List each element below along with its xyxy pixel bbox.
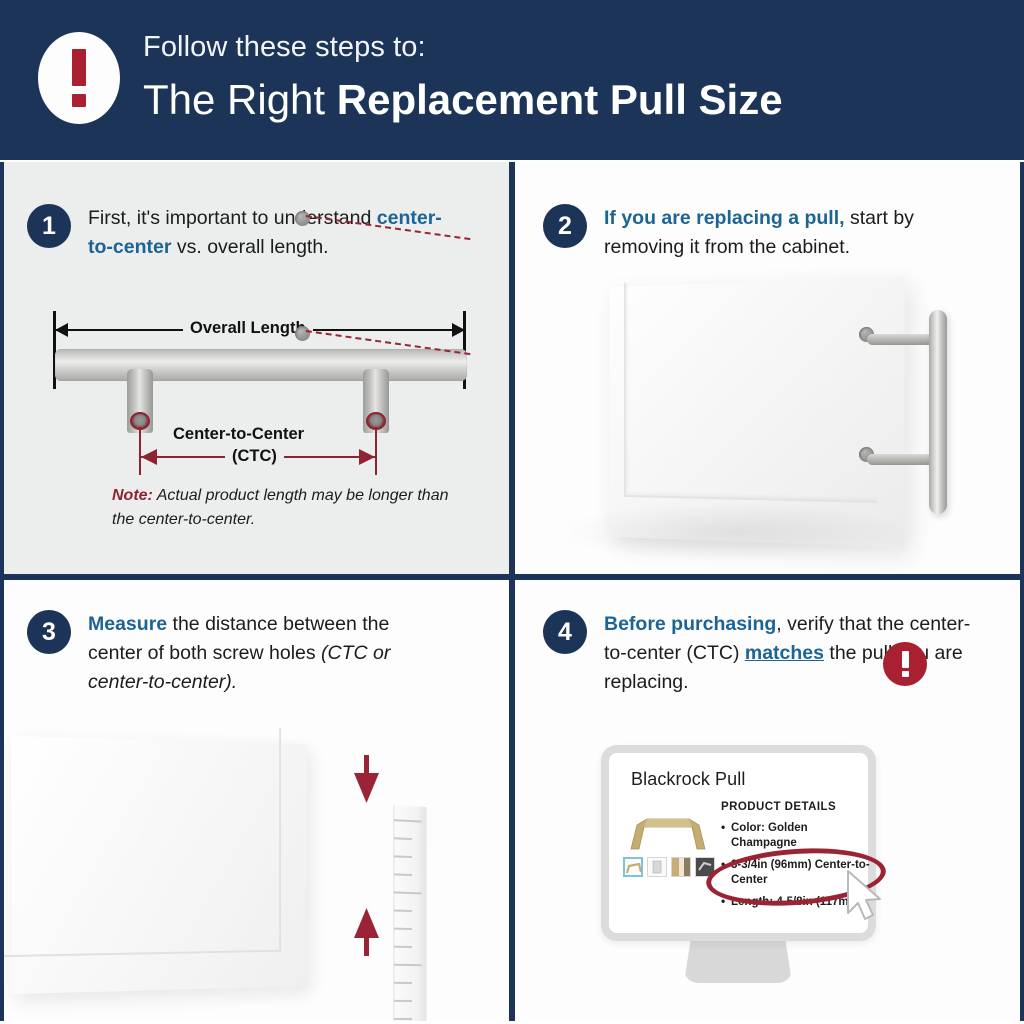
pull-post-top — [867, 334, 935, 345]
overall-arrow-right-icon — [452, 323, 465, 337]
pull-bar-graphic — [55, 349, 467, 381]
step-1-text-b: vs. overall length. — [171, 236, 328, 258]
note-text: Actual product length may be longer than… — [112, 487, 448, 528]
exclamation-circle-icon — [38, 32, 120, 124]
mouse-pointer-icon — [844, 869, 888, 925]
step-1-badge: 1 — [27, 204, 71, 248]
pull-post-bottom — [867, 454, 935, 465]
measure-arrow-up-icon — [352, 900, 382, 956]
step-4-text-accent: Before purchasing — [604, 613, 776, 635]
step-2-text: If you are replacing a pull, start by re… — [604, 204, 943, 262]
step-4-text: Before purchasing, verify that the cente… — [604, 610, 993, 697]
step-2-text-accent: If you are replacing a pull, — [604, 207, 845, 229]
matches-link[interactable]: matches — [745, 642, 824, 664]
header-title-light: The Right — [143, 76, 337, 123]
step-3-badge: 3 — [27, 610, 71, 654]
step-1-note: Note: Actual product length may be longe… — [112, 484, 452, 532]
step-1-text: First, it's important to understand cent… — [88, 204, 457, 262]
cabinet-door-measure-bevel — [1, 719, 281, 957]
header-subtitle: Follow these steps to: — [143, 27, 783, 67]
header-text-block: Follow these steps to: The Right Replace… — [143, 27, 783, 129]
frame-edge-right — [1020, 162, 1024, 1024]
blackrock-pull-icon — [627, 811, 709, 851]
ctc-label: Center-to-Center — [166, 425, 311, 444]
vertical-divider — [509, 162, 515, 1024]
ctc-arrow-left-icon — [141, 449, 157, 465]
exclamation-glyph — [72, 49, 86, 107]
product-thumbnail-1[interactable] — [623, 857, 643, 877]
ruler-graphic — [393, 805, 426, 1024]
step-3-text-accent: Measure — [88, 613, 167, 635]
header-banner: Follow these steps to: The Right Replace… — [0, 0, 1024, 160]
step-1-header: 1 First, it's important to understand ce… — [27, 204, 457, 262]
pull-post-right — [363, 369, 389, 433]
ctc-abbrev-label: (CTC) — [225, 447, 284, 466]
overall-length-label: Overall Length — [183, 319, 313, 338]
screw-hole-lower-icon — [295, 326, 310, 341]
product-thumbnail-2[interactable] — [647, 857, 667, 877]
step-4-header: 4 Before purchasing, verify that the cen… — [543, 610, 993, 697]
product-image — [621, 799, 713, 857]
step-3-text: Measure the distance between the center … — [88, 610, 447, 697]
cabinet-door-inner-bevel — [624, 273, 877, 503]
infographic-page: Follow these steps to: The Right Replace… — [0, 0, 1024, 1024]
product-thumbnail-3[interactable] — [671, 857, 691, 877]
step-2-badge: 2 — [543, 204, 587, 248]
ctc-arrow-right-icon — [359, 449, 375, 465]
door-shadow — [555, 502, 915, 562]
frame-edge-left — [0, 162, 4, 1024]
ctc-drop-right — [375, 427, 377, 475]
measure-arrow-down-icon — [352, 755, 382, 811]
screw-hole-upper-icon — [295, 211, 310, 226]
product-details-heading: PRODUCT DETAILS — [721, 801, 836, 813]
product-page-monitor: Blackrock Pull — [601, 745, 876, 941]
step-2-panel: 2 If you are replacing a pull, start by … — [515, 162, 1024, 574]
step-1-panel: 1 First, it's important to understand ce… — [0, 162, 509, 574]
step-3-panel: 3 Measure the distance between the cente… — [0, 580, 509, 1024]
note-label: Note: — [112, 487, 153, 504]
product-title: Blackrock Pull — [631, 769, 745, 790]
header-title: The Right Replacement Pull Size — [143, 71, 783, 129]
product-thumbnail-strip[interactable] — [623, 857, 715, 877]
step-2-header: 2 If you are replacing a pull, start by … — [543, 204, 943, 262]
pull-post-left — [127, 369, 153, 433]
product-detail-color: Color: Golden Champagne — [721, 821, 876, 850]
pull-bar-vertical — [929, 310, 947, 514]
step-4-panel: 4 Before purchasing, verify that the cen… — [515, 580, 1024, 1024]
monitor-stand — [684, 941, 792, 983]
horizontal-divider — [0, 574, 1024, 580]
pull-dimension-diagram: Overall Length Center-to-Center (CTC) — [45, 307, 475, 477]
alert-exclamation-icon — [883, 642, 927, 686]
step-3-header: 3 Measure the distance between the cente… — [27, 610, 447, 697]
step-4-badge: 4 — [543, 610, 587, 654]
alert-exclamation-glyph — [902, 651, 909, 677]
overall-arrow-left-icon — [55, 323, 68, 337]
header-title-bold: Replacement Pull Size — [337, 76, 783, 123]
cabinet-door-measure — [11, 736, 307, 994]
